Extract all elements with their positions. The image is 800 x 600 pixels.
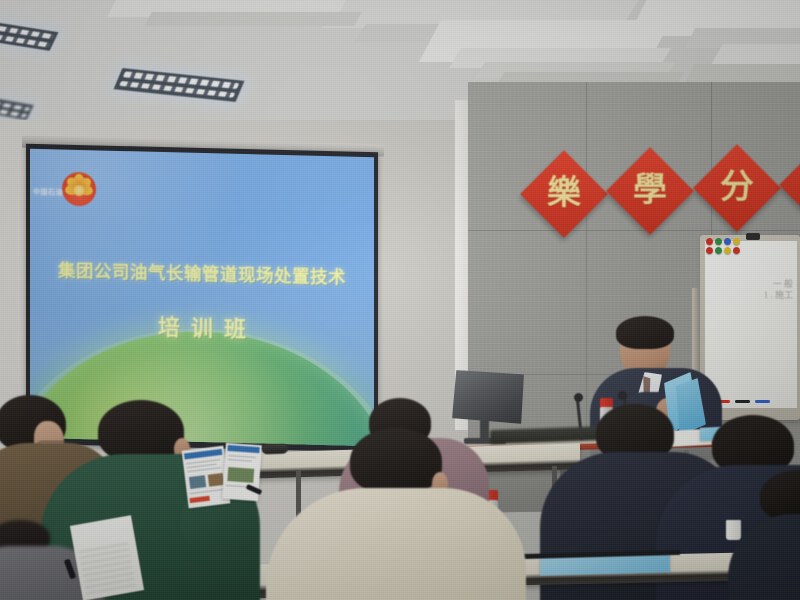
slide-subtitle: 培训班 bbox=[30, 307, 374, 347]
whiteboard-marker[interactable] bbox=[735, 400, 750, 403]
magnet-red[interactable] bbox=[733, 247, 740, 254]
attendee-hair bbox=[98, 400, 184, 462]
attendee-torso bbox=[266, 488, 526, 600]
magnet-red[interactable] bbox=[706, 238, 713, 245]
placard-char: 享 bbox=[792, 154, 800, 216]
microphone-capsule bbox=[574, 393, 583, 402]
attendee-hair bbox=[350, 428, 442, 494]
magnet-green[interactable] bbox=[715, 238, 722, 245]
recessed-fluorescent-light bbox=[0, 96, 34, 120]
recessed-fluorescent-light bbox=[0, 21, 58, 51]
whiteboard-clip[interactable] bbox=[746, 233, 760, 240]
attendee-dark-suit-far-right bbox=[742, 470, 800, 600]
desk-small-object[interactable] bbox=[262, 444, 288, 455]
whiteboard-handwriting: 一 般 1 . 施工 bbox=[737, 279, 793, 301]
placard-le: 樂 bbox=[520, 150, 608, 238]
magnet-blue[interactable] bbox=[724, 238, 731, 245]
magnet-yellow[interactable] bbox=[724, 247, 731, 254]
presenter-hair bbox=[616, 316, 674, 349]
placard-fen: 分 bbox=[693, 144, 781, 232]
slide-title: 集团公司油气长输管道现场处置技术 bbox=[30, 257, 374, 290]
placard-char: 樂 bbox=[533, 163, 595, 225]
petrochina-logo-text: 中国石油 bbox=[30, 187, 68, 198]
placard-char: 分 bbox=[706, 157, 768, 219]
attendee-cream-jacket bbox=[300, 428, 530, 600]
whiteboard-marker[interactable] bbox=[755, 400, 770, 403]
magnet-green[interactable] bbox=[715, 247, 722, 254]
magnet-red[interactable] bbox=[706, 247, 713, 254]
recessed-fluorescent-light bbox=[114, 68, 245, 102]
placard-char: 學 bbox=[619, 160, 681, 222]
placard-xue: 學 bbox=[606, 147, 694, 235]
magnet-yellow[interactable] bbox=[733, 238, 740, 245]
microphone-capsule bbox=[618, 391, 627, 400]
paper-cup[interactable] bbox=[726, 520, 741, 540]
conference-room-photo: 中国石油 集团公司油气长输管道现场处置技术 培训班 樂 學 分 享 一 般 1 … bbox=[0, 0, 800, 600]
handout-text-lines bbox=[79, 542, 136, 594]
